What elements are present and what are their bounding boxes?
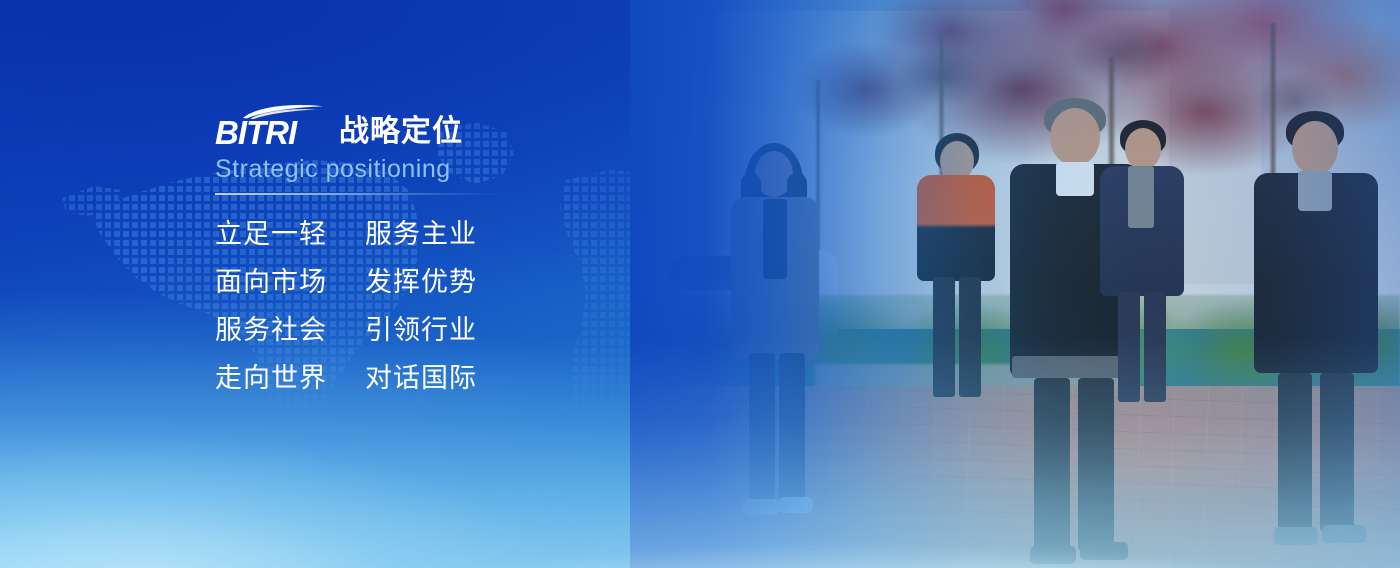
divider-line bbox=[215, 193, 503, 195]
slogan-right: 引领行业 bbox=[365, 313, 477, 347]
campus-walk-photo bbox=[630, 0, 1400, 568]
photo-left-fade bbox=[630, 0, 1400, 568]
slogan-row: 面向市场 发挥优势 bbox=[215, 265, 515, 299]
brand-title-cn: 战略定位 bbox=[339, 117, 463, 148]
headline-block: BITRI 战略定位 Strategic positioning 立足一轻 服务… bbox=[215, 104, 515, 395]
bitri-logo: BITRI bbox=[215, 104, 327, 148]
slogan-right: 发挥优势 bbox=[365, 265, 477, 299]
brand-lockup: BITRI 战略定位 bbox=[215, 104, 515, 148]
slogan-right: 服务主业 bbox=[365, 217, 477, 251]
slogan-row: 服务社会 引领行业 bbox=[215, 313, 515, 347]
slogan-row: 立足一轻 服务主业 bbox=[215, 217, 515, 251]
brand-subtitle-en: Strategic positioning bbox=[215, 156, 515, 184]
slogan-row: 走向世界 对话国际 bbox=[215, 361, 515, 395]
slogan-left: 面向市场 bbox=[215, 265, 365, 299]
slogan-left: 走向世界 bbox=[215, 361, 365, 395]
bitri-wordmark: BITRI bbox=[215, 116, 296, 149]
slogan-left: 服务社会 bbox=[215, 313, 365, 347]
slogan-list: 立足一轻 服务主业 面向市场 发挥优势 服务社会 引领行业 走向世界 对话国际 bbox=[215, 217, 515, 395]
slogan-left: 立足一轻 bbox=[215, 217, 365, 251]
strategic-positioning-banner: BITRI 战略定位 Strategic positioning 立足一轻 服务… bbox=[0, 0, 1400, 568]
slogan-right: 对话国际 bbox=[365, 361, 477, 395]
